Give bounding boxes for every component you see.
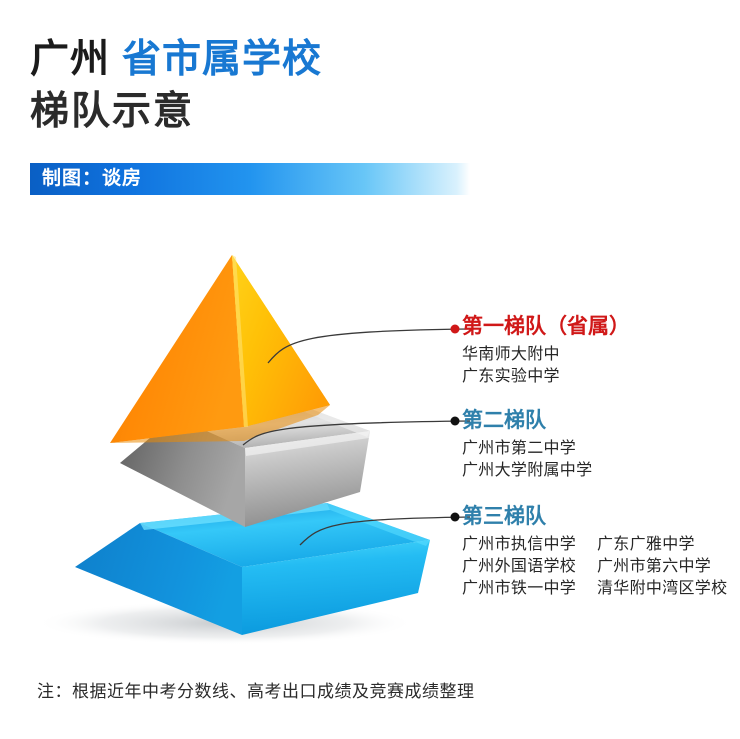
page-title: 广州省市属学校 <box>30 36 322 84</box>
school-name: 广州市执信中学 <box>462 534 597 556</box>
legend-tier-3: 第三梯队 广州市执信中学广东广雅中学 广州外国语学校广州市第六中学 广州市铁一中… <box>462 504 740 600</box>
school-list-item: 广东实验中学 <box>462 366 740 388</box>
school-name: 广州市第二中学 <box>462 438 597 460</box>
tier-3-title: 第三梯队 <box>462 504 740 530</box>
school-name: 广东广雅中学 <box>597 534 695 556</box>
school-list-item: 广州市第二中学 <box>462 438 740 460</box>
school-name: 广东实验中学 <box>462 366 597 388</box>
legend-tier-1: 第一梯队（省属） 华南师大附中 广东实验中学 <box>462 314 740 388</box>
page-title-accent: 省市属学校 <box>122 38 322 81</box>
footnote: 注：根据近年中考分数线、高考出口成绩及竞赛成绩整理 <box>37 680 475 704</box>
legend-tier-2: 第二梯队 广州市第二中学 广州大学附属中学 <box>462 408 740 482</box>
pyramid-graphic <box>0 245 470 645</box>
school-list-item: 广州市铁一中学清华附中湾区学校 <box>462 578 740 600</box>
school-name: 广州外国语学校 <box>462 556 597 578</box>
pyramid-tier-apex <box>110 255 330 443</box>
page-subtitle: 梯队示意 <box>30 88 194 136</box>
school-name: 华南师大附中 <box>462 344 597 366</box>
tier-1-title: 第一梯队（省属） <box>462 314 740 340</box>
tier-2-title: 第二梯队 <box>462 408 740 434</box>
school-name: 广州市铁一中学 <box>462 578 597 600</box>
school-list-item: 广州外国语学校广州市第六中学 <box>462 556 740 578</box>
school-list-item: 华南师大附中 <box>462 344 740 366</box>
credit-label: 制图：谈房 <box>42 168 142 190</box>
credit-banner: 制图：谈房 <box>30 163 470 195</box>
infographic-canvas: 广州省市属学校 梯队示意 制图：谈房 <box>0 0 740 739</box>
school-name: 广州市第六中学 <box>597 556 711 578</box>
school-name: 广州大学附属中学 <box>462 460 597 482</box>
school-list-item: 广州大学附属中学 <box>462 460 740 482</box>
school-name: 清华附中湾区学校 <box>597 578 727 600</box>
page-title-main: 广州 <box>30 38 110 81</box>
school-list-item: 广州市执信中学广东广雅中学 <box>462 534 740 556</box>
